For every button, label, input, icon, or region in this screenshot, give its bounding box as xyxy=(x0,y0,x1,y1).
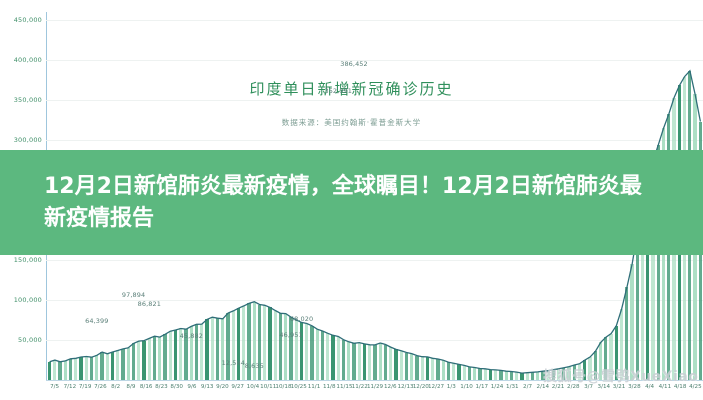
x-axis-tick-label: 7/26 xyxy=(94,384,107,390)
x-axis-tick-label: 7/5 xyxy=(50,384,59,390)
data-point-label: 86,821 xyxy=(138,300,161,308)
x-axis-tick-label: 11/29 xyxy=(367,384,383,390)
screenshot-root: 50,000100,000150,000200,000250,000300,00… xyxy=(0,0,703,400)
data-point-label: 46,951 xyxy=(279,331,302,339)
x-axis-tick-label: 10/11 xyxy=(260,384,276,390)
x-axis-tick-label: 9/20 xyxy=(216,384,229,390)
x-axis-tick-label: 8/23 xyxy=(155,384,168,390)
x-axis-tick-label: 8/16 xyxy=(140,384,153,390)
y-axis-tick-label: 450,000 xyxy=(2,16,42,24)
x-axis-tick-label: 9/6 xyxy=(187,384,196,390)
x-axis-tick-label: 12/20 xyxy=(413,384,429,390)
x-axis-tick-label: 10/4 xyxy=(247,384,260,390)
x-axis-tick-label: 10/18 xyxy=(275,384,291,390)
x-axis-tick-label: 11/22 xyxy=(352,384,368,390)
x-axis-tick-label: 12/6 xyxy=(384,384,397,390)
x-axis-tick-label: 1/31 xyxy=(506,384,519,390)
x-axis-tick-label: 1/3 xyxy=(447,384,456,390)
data-point-label: 97,894 xyxy=(122,291,145,299)
x-axis-tick-label: 8/2 xyxy=(111,384,120,390)
x-axis-tick-label: 9/27 xyxy=(231,384,244,390)
x-axis-tick-label: 2/7 xyxy=(523,384,532,390)
headline-text: 12月2日新馆肺炎最新疫情，全球瞩目！12月2日新馆肺炎最新疫情报告 xyxy=(44,171,659,235)
y-axis-tick-label: 400,000 xyxy=(2,56,42,64)
watermark: 搜狐号@雪鸮XueXiao xyxy=(543,366,698,386)
x-axis-tick-label: 11/1 xyxy=(308,384,321,390)
x-axis-tick-label: 8/9 xyxy=(126,384,135,390)
y-axis-tick-label: 150,000 xyxy=(2,256,42,264)
x-axis-tick-label: 11/8 xyxy=(323,384,336,390)
x-axis-tick-label: 12/13 xyxy=(397,384,413,390)
data-point-label: 45,882 xyxy=(180,332,203,340)
x-axis-tick-label: 1/17 xyxy=(476,384,489,390)
data-point-label: 8,635 xyxy=(245,362,264,370)
x-axis-tick-label: 12/27 xyxy=(428,384,444,390)
data-point-label: 12,584 xyxy=(222,359,245,367)
data-point-label: 386,452 xyxy=(340,60,368,68)
x-axis-tick-label: 1/24 xyxy=(491,384,504,390)
data-point-label: 352,991 xyxy=(324,87,352,95)
y-axis-tick-label: 300,000 xyxy=(2,136,42,144)
y-axis-tick-label: 100,000 xyxy=(2,296,42,304)
x-axis-tick-label: 7/19 xyxy=(79,384,92,390)
x-axis-tick-label: 8/30 xyxy=(170,384,183,390)
headline-overlay: 12月2日新馆肺炎最新疫情，全球瞩目！12月2日新馆肺炎最新疫情报告 xyxy=(0,150,703,255)
y-axis-tick-label: 50,000 xyxy=(2,336,42,344)
x-axis-tick-label: 11/15 xyxy=(336,384,352,390)
data-point-label: 64,399 xyxy=(85,317,108,325)
x-axis-tick-label: 10/25 xyxy=(291,384,307,390)
x-axis-tick-label: 9/13 xyxy=(201,384,214,390)
data-point-label: 68,020 xyxy=(290,315,313,323)
x-axis-tick-label: 7/12 xyxy=(64,384,77,390)
x-axis-tick-label: 1/10 xyxy=(460,384,473,390)
